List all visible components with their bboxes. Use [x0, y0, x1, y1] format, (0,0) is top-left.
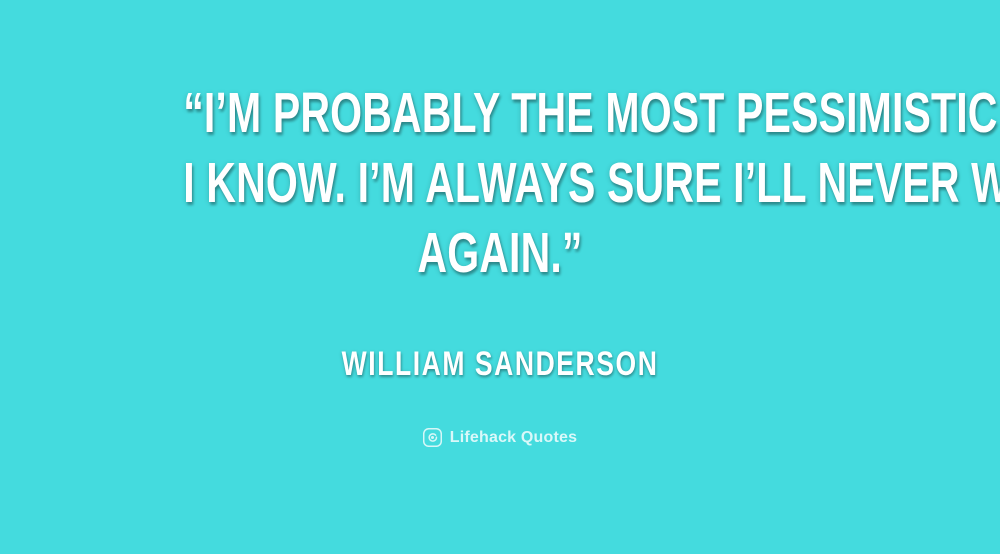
lifehack-spiral-icon — [423, 428, 442, 447]
quote-text: “I’M PROBABLY THE MOST PESSIMISTIC ACTOR… — [183, 78, 817, 288]
quote-line: “I’M PROBABLY THE MOST PESSIMISTIC ACTOR — [183, 78, 817, 148]
brand-name: Lifehack Quotes — [450, 428, 577, 447]
brand-footer: Lifehack Quotes — [0, 428, 1000, 447]
quote-line: I KNOW. I’M ALWAYS SURE I’LL NEVER WORK — [183, 148, 817, 218]
quote-author: WILLIAM SANDERSON — [342, 344, 659, 384]
quote-line: AGAIN.” — [183, 218, 817, 288]
quote-card: “I’M PROBABLY THE MOST PESSIMISTIC ACTOR… — [0, 0, 1000, 554]
